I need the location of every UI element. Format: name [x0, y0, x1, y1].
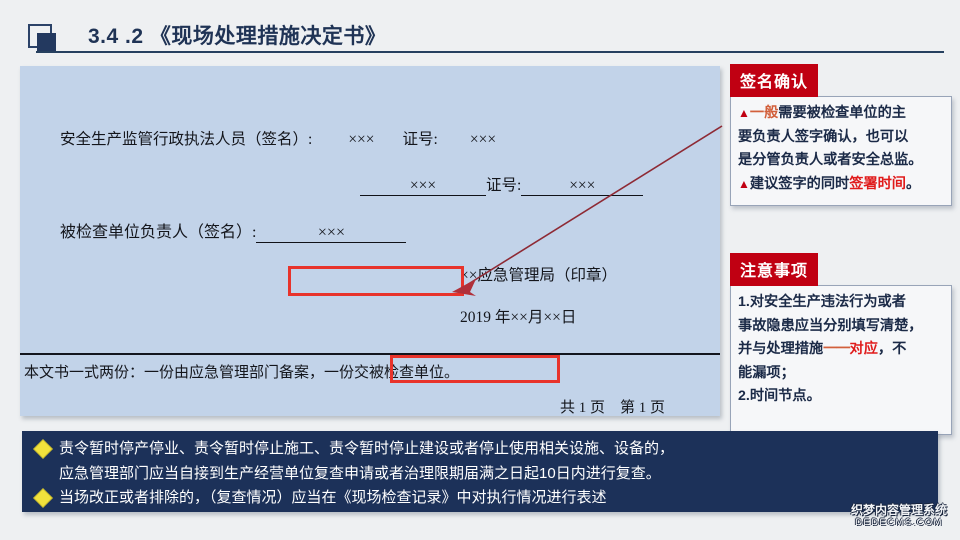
callout-signature-confirm: 签名确认 ▲一般需要被检查单位的主 要负责人签字确认，也可以 是分管负责人或者安… [730, 64, 952, 206]
copies-note-a: 本文书一式两份：一份由应急管理部门备案， [24, 365, 324, 381]
callout-2-body: 1.对安全生产违法行为或者 事故隐患应当分别填写清楚， 并与处理措施一一对应，不… [730, 285, 952, 435]
slide-header: 3.4 .2 《现场处理措施决定书》 [0, 8, 960, 54]
issue-date: 2019 年××月××日 [460, 305, 576, 327]
band-item-2-line-1: 当场改正或者排除的，（复查情况）应当在《现场检查记录》中对执行情况进行表述 [59, 485, 607, 510]
footer-divider [20, 353, 720, 355]
triangle-bullet-icon: ▲ [738, 177, 750, 191]
diamond-bullet-icon [33, 488, 53, 508]
officer-cert-value: ××× [470, 131, 496, 148]
doc-row-officer: 安全生产监管行政执法人员（签名）:×××证号:××× [60, 127, 496, 149]
unit-head-signature: ××× [256, 224, 406, 243]
document-panel: 安全生产监管行政执法人员（签名）:×××证号:××× ×××证号:××× 被检查… [20, 66, 720, 416]
officer-value: ××× [348, 131, 374, 148]
watermark: 织梦内容管理系统 DEDECMS.COM [846, 504, 952, 536]
bottom-notes-band: 责令暂时停产停业、责令暂时停止施工、责令暂时停止建设或者停止使用相关设施、设备的… [22, 431, 938, 512]
officer-label: 安全生产监管行政执法人员（签名）: [60, 131, 312, 148]
callout-1-line-4: ▲建议签字的同时签署时间。 [738, 173, 945, 197]
band-item-1-line-1: 责令暂时停产停业、责令暂时停止施工、责令暂时停止建设或者停止使用相关设施、设备的… [59, 436, 674, 461]
band-item-1: 责令暂时停产停业、责令暂时停止施工、责令暂时停止建设或者停止使用相关设施、设备的… [36, 436, 674, 486]
slide-root: 3.4 .2 《现场处理措施决定书》 安全生产监管行政执法人员（签名）:×××证… [0, 0, 960, 540]
header-divider [36, 51, 944, 53]
page-count: 共 1 页 第 1 页 [560, 396, 665, 417]
callout-2-line-3: 并与处理措施一一对应，不 [738, 338, 945, 362]
callout-2-line-4: 能漏项； [738, 362, 945, 386]
triangle-bullet-icon: ▲ [738, 106, 750, 120]
issuing-authority: ××应急管理局（印章） [460, 263, 617, 285]
officer2-cert-label: 证号: [486, 177, 521, 194]
watermark-line-1: 织梦内容管理系统 [846, 504, 952, 517]
unit-head-label: 被检查单位负责人（签名）: [60, 224, 256, 241]
callout-1-body: ▲一般需要被检查单位的主 要负责人签字确认，也可以 是分管负责人或者安全总监。 … [730, 96, 952, 206]
highlight-box-copies [390, 355, 560, 383]
band-item-2-text: 当场改正或者排除的，（复查情况）应当在《现场检查记录》中对执行情况进行表述 [59, 485, 607, 510]
callout-2-line-2: 事故隐患应当分别填写清楚， [738, 315, 945, 339]
band-item-2: 当场改正或者排除的，（复查情况）应当在《现场检查记录》中对执行情况进行表述 [36, 485, 607, 510]
callout-2-line-5: 2.时间节点。 [738, 385, 945, 409]
callout-notes: 注意事项 1.对安全生产违法行为或者 事故隐患应当分别填写清楚， 并与处理措施一… [730, 253, 952, 435]
diamond-bullet-icon [33, 439, 53, 459]
band-item-1-text: 责令暂时停产停业、责令暂时停止施工、责令暂时停止建设或者停止使用相关设施、设备的… [59, 436, 674, 486]
watermark-line-2: DEDECMS.COM [846, 517, 952, 529]
callout-1-line-1: ▲一般需要被检查单位的主 [738, 102, 945, 126]
callout-2-tab: 注意事项 [730, 253, 818, 286]
officer2-cert-value: ××× [521, 177, 643, 196]
doc-row-officer-2: ×××证号:××× [360, 173, 643, 196]
officer2-value: ××× [360, 177, 486, 196]
highlight-box-signature [288, 266, 464, 296]
page-title: 3.4 .2 《现场处理措施决定书》 [88, 20, 386, 50]
callout-1-line-3: 是分管负责人或者安全总监。 [738, 149, 945, 173]
callout-1-line-2: 要负责人签字确认，也可以 [738, 126, 945, 150]
doc-row-unit-head: 被检查单位负责人（签名）:××× [60, 218, 406, 243]
callout-2-line-1: 1.对安全生产违法行为或者 [738, 291, 945, 315]
officer-cert-label: 证号: [403, 131, 438, 148]
band-item-1-line-2: 应急管理部门应当自接到生产经营单位复查申请或者治理限期届满之日起10日内进行复查… [59, 461, 674, 486]
double-square-icon [28, 24, 58, 54]
callout-1-tab: 签名确认 [730, 64, 818, 97]
